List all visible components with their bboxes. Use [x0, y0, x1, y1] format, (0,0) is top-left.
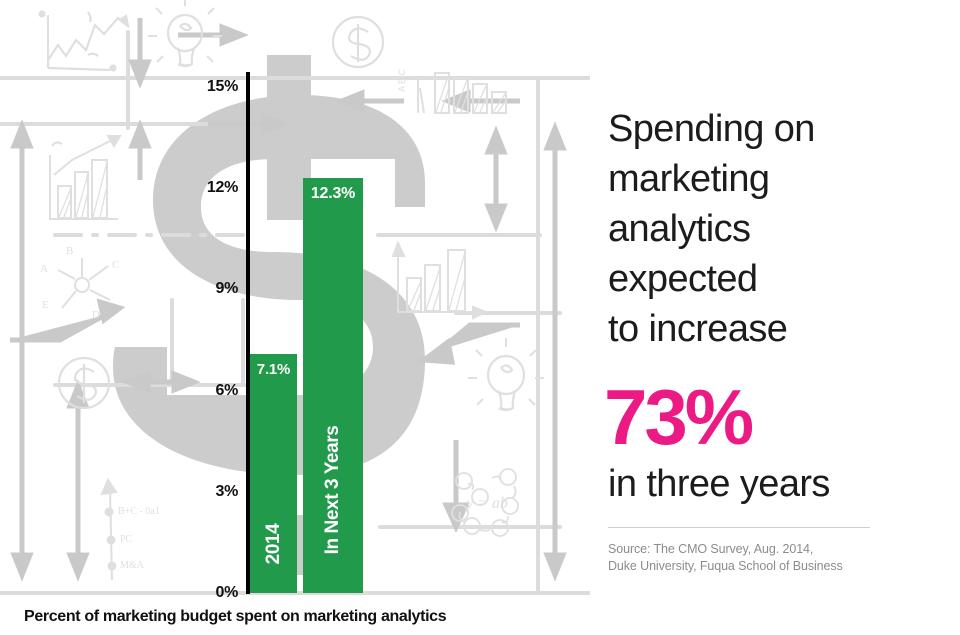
bar-value-next-3-years: 12.3% [303, 185, 363, 203]
svg-text:y = ab: y = ab [464, 495, 508, 512]
divider [608, 527, 870, 528]
infographic-root: A B C [0, 0, 960, 635]
headline-line-2: marketing [608, 154, 960, 204]
bar-label-2014: 2014 [263, 524, 285, 565]
chart-panel: A B C [0, 0, 590, 635]
headline-line-4: expected [608, 254, 960, 304]
y-axis-tick-15: 15% [207, 78, 238, 96]
text-panel: Spending on marketing analytics expected… [608, 0, 960, 635]
plot-area: 7.1% 2014 12.3% In Next 3 Years [250, 0, 390, 600]
headline-line-5: to increase [608, 304, 960, 354]
y-axis-tick-3: 3% [215, 483, 238, 501]
y-axis-tick-6: 6% [215, 382, 238, 400]
y-axis-labels: 15% 12% 9% 6% 3% 0% [0, 0, 246, 600]
lightbulb-sketch-icon-2 [468, 338, 544, 410]
bar-next-3-years[interactable]: 12.3% In Next 3 Years [303, 178, 363, 593]
bar-2014[interactable]: 7.1% 2014 [250, 354, 297, 594]
headline-line-3: analytics [608, 204, 960, 254]
headline: Spending on marketing analytics expected… [608, 104, 960, 354]
source-line-1: Source: The CMO Survey, Aug. 2014, [608, 541, 938, 558]
headline-line-1: Spending on [608, 104, 960, 154]
big-number-subline: in three years [608, 462, 830, 506]
bar-chart-sketch-icon-2 [393, 243, 486, 318]
cycle-diagram-sketch-icon: y = ab [452, 469, 518, 536]
y-axis-tick-9: 9% [215, 280, 238, 298]
y-axis-tick-0: 0% [215, 584, 238, 602]
descending-bar-chart-sketch-icon: A B C [397, 68, 506, 113]
source-line-2: Duke University, Fuqua School of Busines… [608, 558, 938, 575]
svg-text:A B C: A B C [397, 68, 407, 92]
big-number-stat: 73% [604, 378, 751, 456]
y-axis-tick-12: 12% [207, 179, 238, 197]
bar-label-next-3-years: In Next 3 Years [322, 426, 344, 555]
source-note: Source: The CMO Survey, Aug. 2014, Duke … [608, 541, 938, 575]
chart-caption: Percent of marketing budget spent on mar… [24, 608, 446, 626]
bar-value-2014: 7.1% [250, 361, 297, 378]
